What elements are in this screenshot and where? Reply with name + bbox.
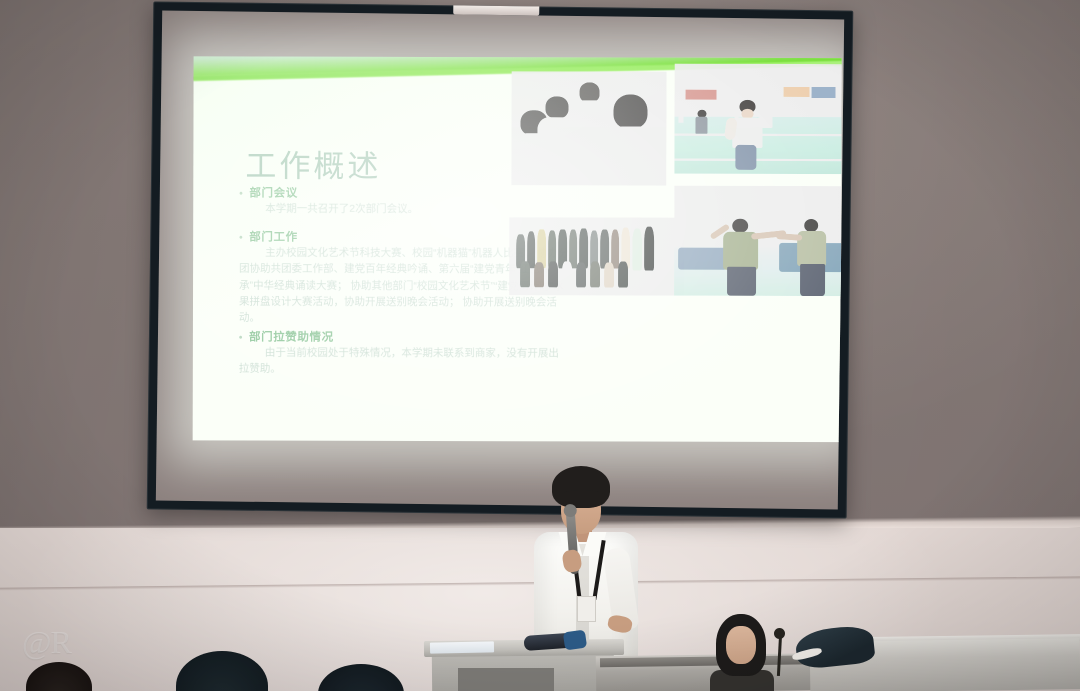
lecture-hall-scene: 工作概述 部门会议 本学期一共召开了2次部门会议。 部门工作 主办校园文化艺术节… — [0, 0, 1080, 691]
slide-bullet-1: 部门会议 本学期一共召开了2次部门会议。 — [239, 184, 539, 217]
podium-papers — [430, 641, 494, 653]
id-badge — [577, 596, 596, 622]
bullet-1-heading: 部门会议 — [239, 184, 539, 201]
watermark: @R — [22, 624, 71, 661]
seated-face — [726, 626, 756, 664]
slide-title: 工作概述 — [245, 141, 381, 186]
bullet-3-body: 由于当前校园处于特殊情况，本学期未联系到商家，没有开展出拉赞助。 — [239, 344, 569, 377]
desk-microphone — [774, 628, 785, 639]
department-meeting-photo — [511, 71, 666, 185]
slide-bullet-3: 部门拉赞助情况 由于当前校园处于特殊情况，本学期未联系到商家，没有开展出拉赞助。 — [239, 328, 569, 377]
presenter-hair — [552, 466, 610, 508]
projected-slide: 工作概述 部门会议 本学期一共召开了2次部门会议。 部门工作 主办校园文化艺术节… — [193, 56, 842, 442]
screen-mount-bracket — [453, 5, 539, 15]
seated-woman-at-desk — [700, 608, 880, 691]
podium-accessory — [563, 630, 587, 651]
gym-exercise-photo — [674, 186, 842, 296]
podium-shelf — [458, 668, 554, 691]
projection-screen: 工作概述 部门会议 本学期一共召开了2次部门会议。 部门工作 主办校园文化艺术节… — [147, 1, 854, 518]
desk-mic-stand — [777, 634, 782, 676]
bullet-1-body: 本学期一共召开了2次部门会议。 — [239, 200, 539, 217]
bullet-3-heading: 部门拉赞助情况 — [239, 328, 569, 345]
group-photo — [509, 217, 684, 295]
megaphone-girl-photo — [674, 64, 841, 174]
bag-on-desk — [794, 624, 876, 670]
screen-surface: 工作概述 部门会议 本学期一共召开了2次部门会议。 部门工作 主办校园文化艺术节… — [156, 11, 844, 510]
